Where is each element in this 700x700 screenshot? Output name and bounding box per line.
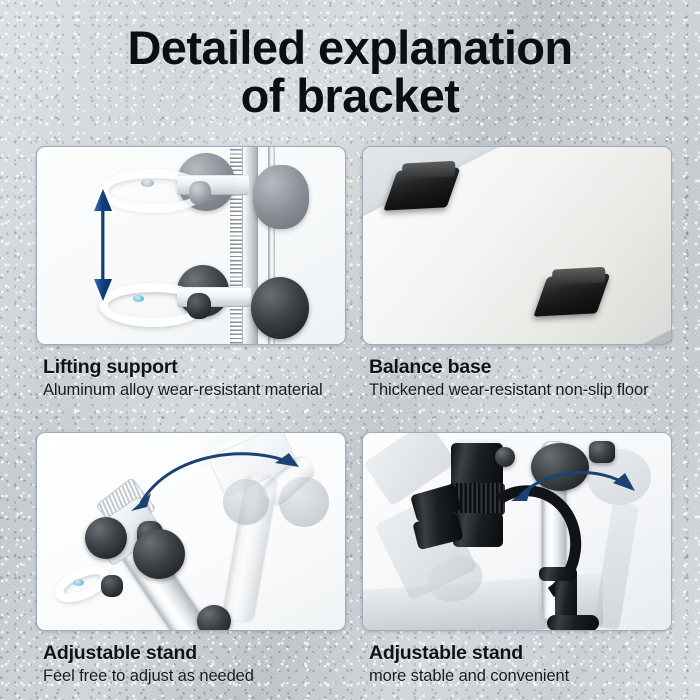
photo-adjustable-stand-right <box>362 432 672 631</box>
ring-indicator-dot <box>133 295 144 302</box>
panel-adjustable-stand-left: Adjustable stand Feel free to adjust as … <box>36 432 346 684</box>
caption-body: Feel free to adjust as needed <box>43 667 344 686</box>
page-title-line-1: Detailed explanation <box>127 21 572 74</box>
knob-lower-small <box>187 293 211 319</box>
knob-upper-small <box>189 181 211 205</box>
photo-lifting-support <box>36 146 346 345</box>
knob-upper-side <box>253 165 309 229</box>
post-ghost-right <box>593 502 638 631</box>
curved-double-arrow-icon <box>123 445 323 515</box>
caption-heading: Adjustable stand <box>369 642 670 664</box>
ring-hole-upper <box>141 179 154 187</box>
panel-balance-base: Balance base Thickened wear-resistant no… <box>362 146 672 416</box>
gooseneck-foot <box>547 615 599 631</box>
knob-lower-side <box>251 277 309 339</box>
caption-adjustable-stand-left: Adjustable stand Feel free to adjust as … <box>36 631 346 686</box>
caption-heading: Adjustable stand <box>43 642 344 664</box>
ring-arm-upper <box>177 175 249 195</box>
page-title-line-2: of bracket <box>0 72 700 120</box>
panel-adjustable-stand-right: Adjustable stand more stable and conveni… <box>362 432 672 684</box>
adjust-knob-small <box>589 441 615 463</box>
photo-adjustable-stand-left <box>36 432 346 631</box>
caption-balance-base: Balance base Thickened wear-resistant no… <box>362 345 672 400</box>
knob-collar-lock <box>101 575 123 597</box>
caption-body: Thickened wear-resistant non-slip floor <box>369 381 670 400</box>
camera-side-knob <box>495 447 515 467</box>
camera-upper-body <box>451 443 503 487</box>
gooseneck-clamp <box>539 567 577 581</box>
curved-double-arrow-icon <box>505 465 641 505</box>
knob-arm-back <box>85 517 127 559</box>
photo-balance-base <box>362 146 672 345</box>
knob-arm-lower <box>197 605 231 631</box>
caption-body: more stable and convenient <box>369 667 670 686</box>
page-title: Detailed explanation of bracket <box>0 24 700 120</box>
caption-adjustable-stand-right: Adjustable stand more stable and conveni… <box>362 631 672 686</box>
caption-heading: Lifting support <box>43 356 344 378</box>
caption-heading: Balance base <box>369 356 670 378</box>
double-arrow-vertical-icon <box>92 189 114 301</box>
caption-body: Aluminum alloy wear-resistant material <box>43 381 344 400</box>
knob-arm-main <box>133 529 185 579</box>
caption-lifting-support: Lifting support Aluminum alloy wear-resi… <box>36 345 346 400</box>
collar-indicator-dot <box>73 579 84 586</box>
panel-lifting-support: Lifting support Aluminum alloy wear-resi… <box>36 146 346 416</box>
